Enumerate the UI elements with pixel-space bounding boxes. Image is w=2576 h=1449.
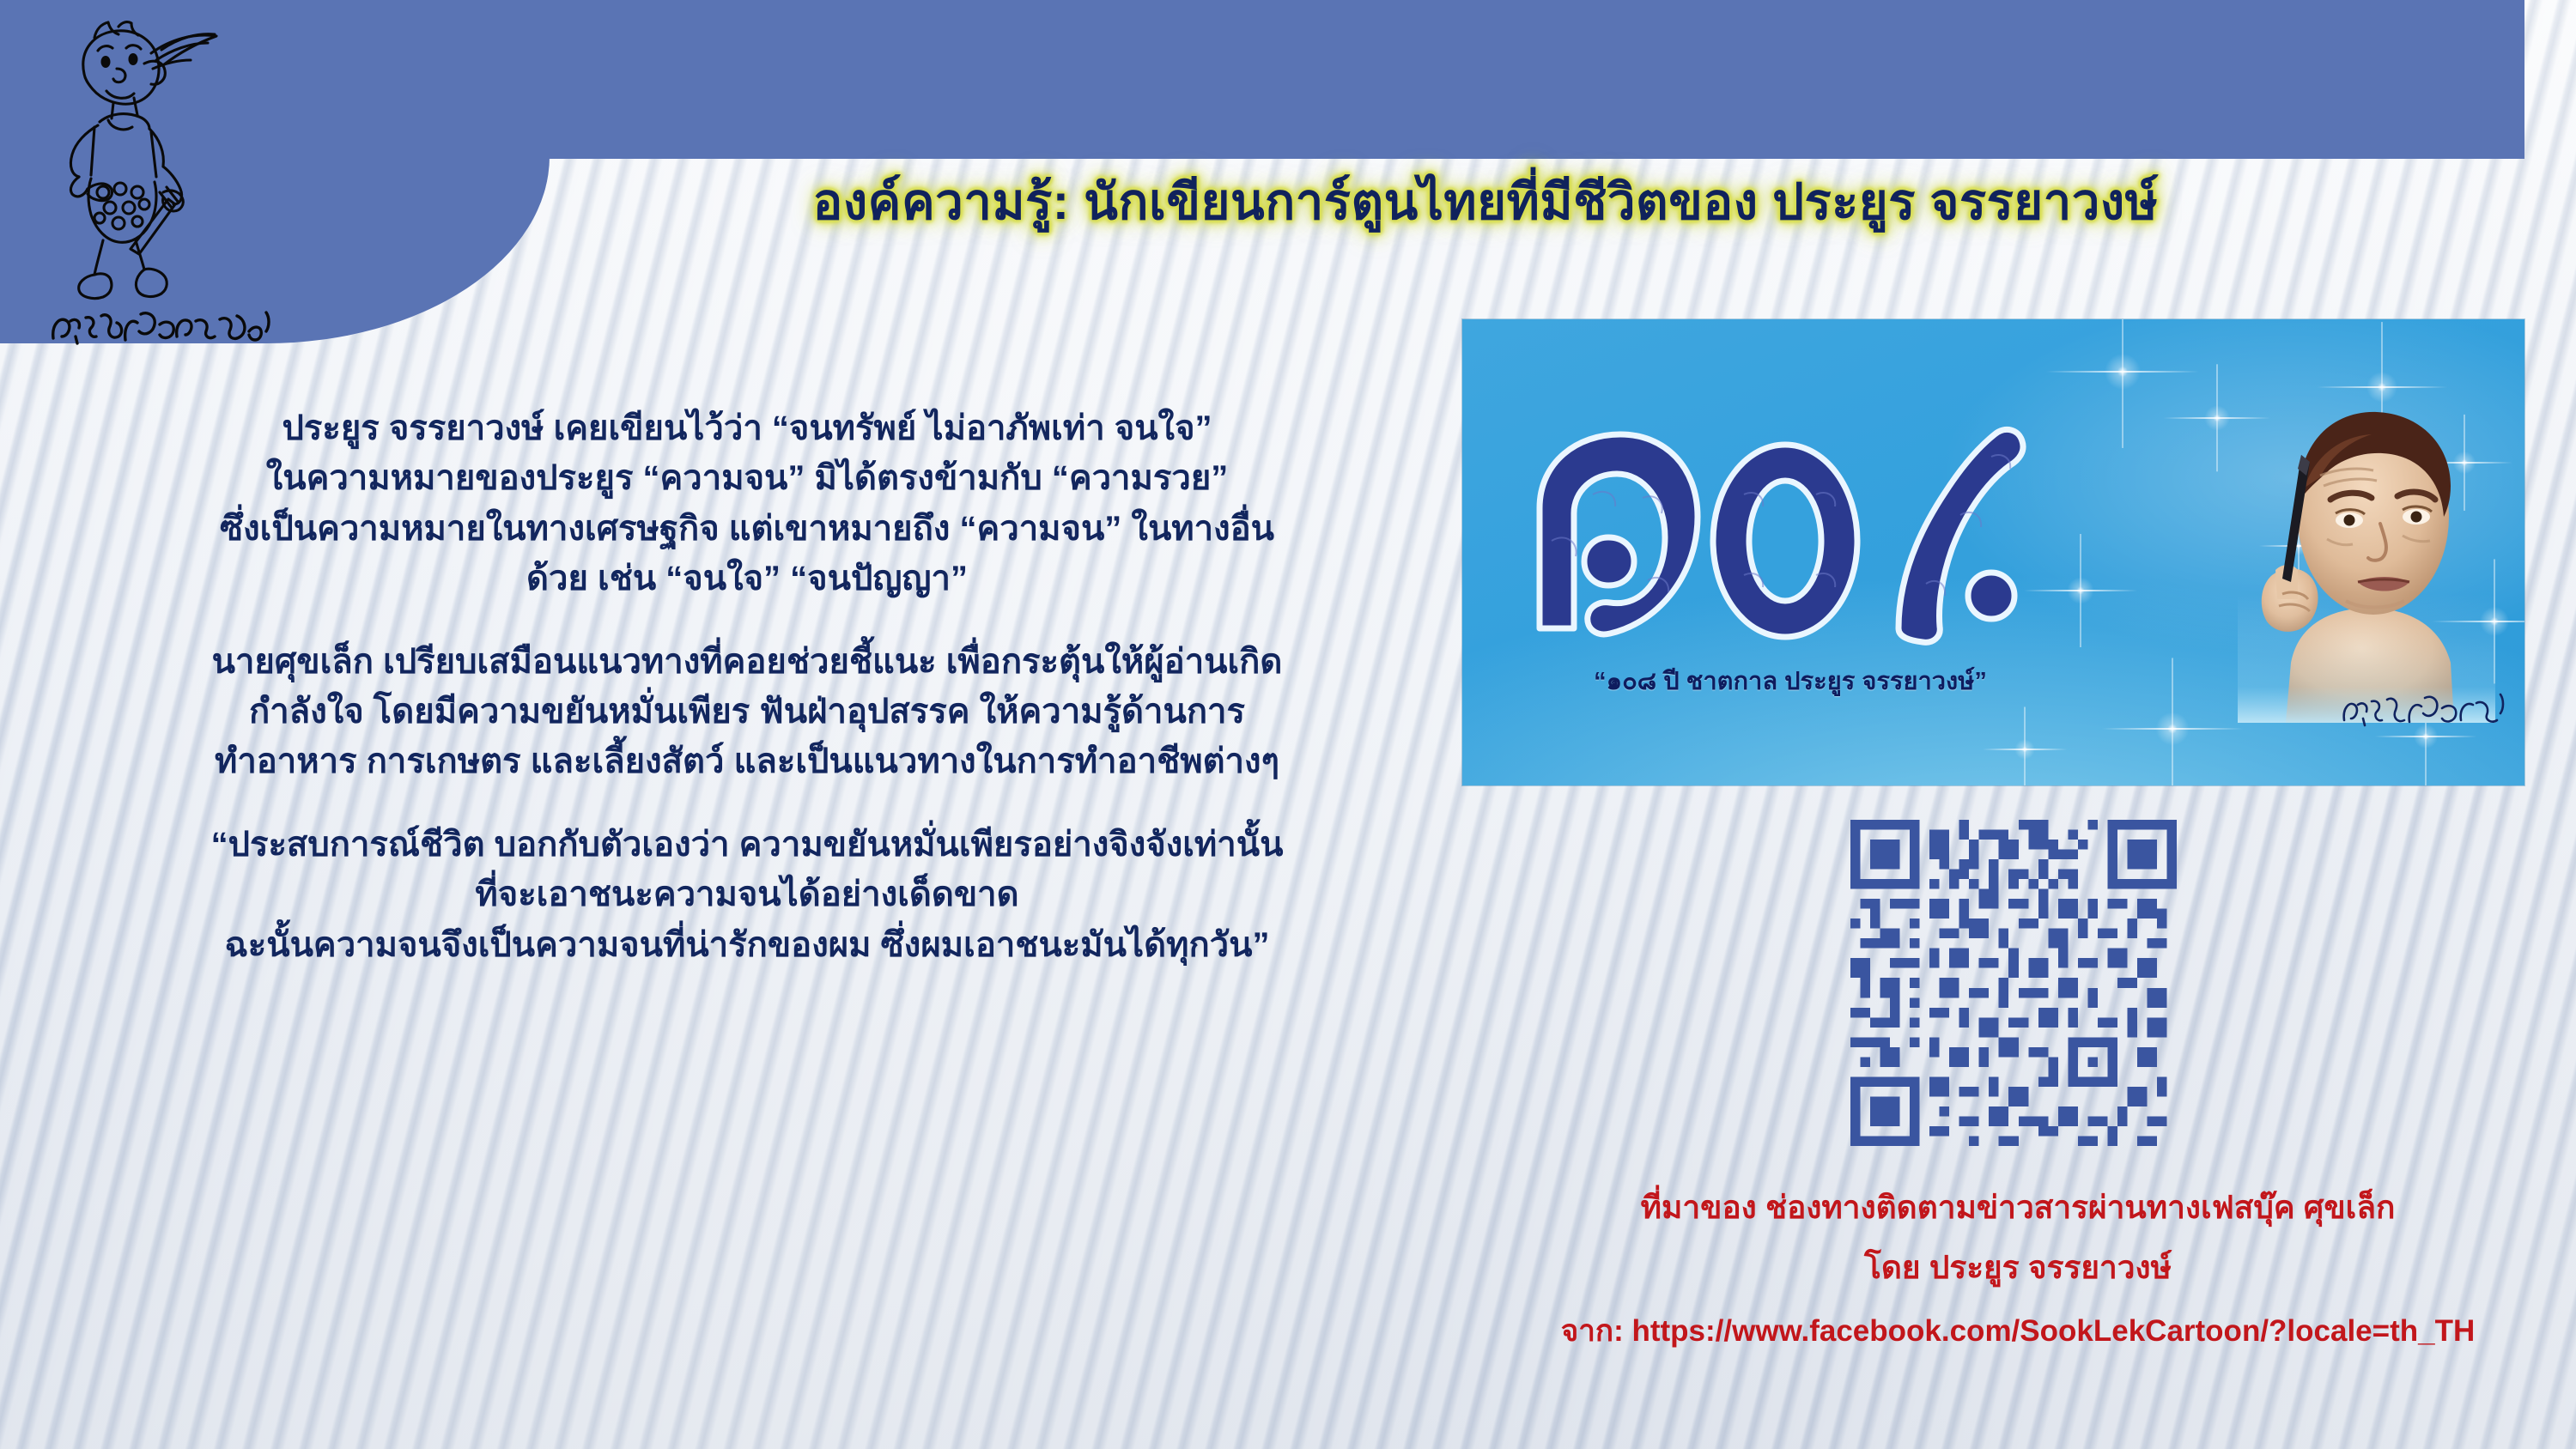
paragraph-1-line-4: ด้วย เช่น “จนใจ” “จนปัญญา” (26, 554, 1468, 603)
paragraph-2-line-1: นายศุขเล็ก เปรียบเสมือนแนวทางที่คอยช่วยช… (26, 637, 1468, 687)
credit-author-line: โดย ประยูร จรรยาวงษ์ (1460, 1249, 2576, 1287)
sparkle-icon (2012, 737, 2038, 762)
banner-caption: “๑๐๘ ปี ชาตกาล ประยูร จรรยาวงษ์” (1507, 661, 2074, 700)
portrait-prayoon (2238, 379, 2495, 723)
paragraph-2: นายศุขเล็ก เปรียบเสมือนแนวทางที่คอยช่วยช… (26, 637, 1468, 787)
sparkle-icon (2063, 573, 2098, 608)
mascot-sooklek-icon (34, 12, 309, 312)
paragraph-3: “ประสบการณ์ชีวิต บอกกับตัวเองว่า ความขยั… (26, 820, 1468, 970)
body-text-block: ประยูร จรรยาวงษ์ เคยเขียนไว้ว่า “จนทรัพย… (26, 403, 1468, 970)
anniversary-banner-image: “๑๐๘ ปี ชาตกาล ประยูร จรรยาวงษ์” (1462, 319, 2524, 785)
credits-block: ที่มาของ ช่องทางติดตามข่าวสารผ่านทางเฟสบ… (1460, 1189, 2576, 1349)
facebook-qr-code-icon[interactable] (1850, 820, 2177, 1146)
banner-signature-icon (2336, 686, 2507, 736)
paragraph-3-line-3: ฉะนั้นความจนจึงเป็นความจนที่น่ารักของผม … (26, 920, 1468, 970)
sparkle-icon (2099, 349, 2146, 395)
paragraph-1-line-1: ประยูร จรรยาวงษ์ เคยเขียนไว้ว่า “จนทรัพย… (26, 403, 1468, 453)
thai-numeral-108-icon (1514, 412, 2063, 661)
paragraph-1-line-2: ในความหมายของประยูร “ความจน” มิได้ตรงข้า… (26, 453, 1468, 503)
credit-url-line[interactable]: จาก: https://www.facebook.com/SookLekCar… (1460, 1313, 2576, 1349)
paragraph-3-line-2: ที่จะเอาชนะความจนได้อย่างเด็ดขาด (26, 870, 1468, 919)
sparkle-icon (2151, 707, 2194, 750)
paragraph-2-line-2: กำลังใจ โดยมีความขยันหมั่นเพียร ฟันฝ่าอุ… (26, 687, 1468, 737)
paragraph-2-line-3: ทำอาหาร การเกษตร และเลี้ยงสัตว์ และเป็นแ… (26, 737, 1468, 786)
paragraph-1-line-3: ซึ่งเป็นความหมายในทางเศรษฐกิจ แต่เขาหมาย… (26, 504, 1468, 554)
paragraph-3-line-1: “ประสบการณ์ชีวิต บอกกับตัวเองว่า ความขยั… (26, 820, 1468, 870)
mascot-signature-icon (41, 302, 282, 354)
paragraph-1: ประยูร จรรยาวงษ์ เคยเขียนไว้ว่า “จนทรัพย… (26, 403, 1468, 604)
credit-source-line: ที่มาของ ช่องทางติดตามข่าวสารผ่านทางเฟสบ… (1460, 1189, 2576, 1227)
page-title: องค์ความรู้: นักเขียนการ์ตูนไทยที่มีชีวิ… (601, 153, 2370, 249)
sparkle-icon (2201, 402, 2233, 434)
